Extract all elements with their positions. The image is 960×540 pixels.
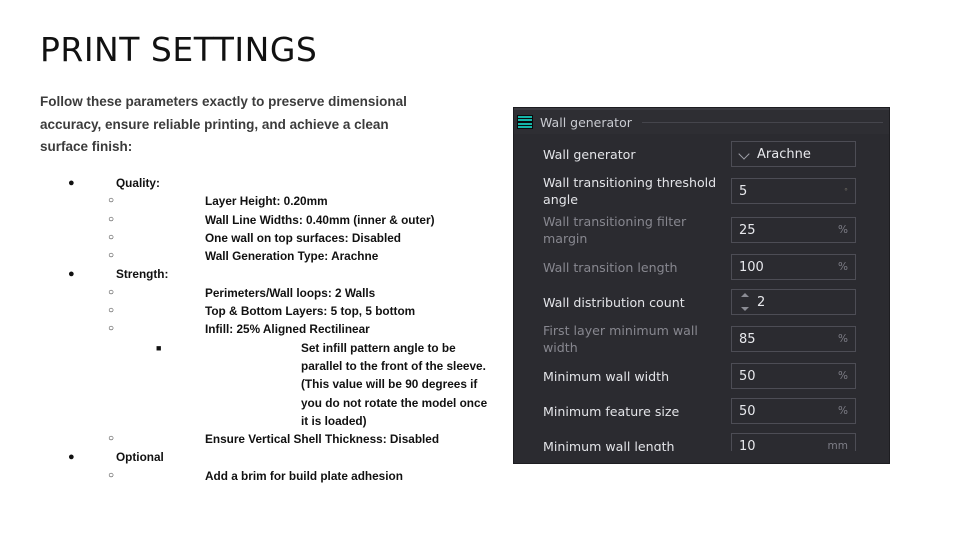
header-divider — [642, 122, 883, 123]
setting-unit: % — [834, 224, 848, 236]
bullet-item-l1: ●Quality: — [40, 174, 490, 192]
setting-label: Minimum wall width — [521, 368, 731, 385]
setting-label: Wall transition length — [521, 259, 731, 276]
setting-text-field[interactable]: 5° — [731, 178, 856, 204]
setting-text-field[interactable]: 25% — [731, 217, 856, 243]
bullet-item-l2: ○Wall Generation Type: Arachne — [40, 247, 490, 265]
setting-text-field[interactable]: 100% — [731, 254, 856, 280]
bullet-item-l2: ○Perimeters/Wall loops: 2 Walls — [40, 284, 490, 302]
setting-value[interactable]: 5 — [739, 184, 840, 199]
setting-label: Wall generator — [521, 146, 731, 163]
settings-bullet-list: ●Quality:○Layer Height: 0.20mm○Wall Line… — [40, 174, 490, 485]
bullet-text: Strength: — [116, 265, 490, 283]
setting-value[interactable]: 100 — [739, 260, 834, 275]
setting-value[interactable]: 25 — [739, 223, 834, 238]
bullet-text: Wall Generation Type: Arachne — [205, 247, 490, 265]
bullet-marker-icon: ● — [40, 265, 116, 283]
bullet-text: Ensure Vertical Shell Thickness: Disable… — [205, 430, 490, 448]
setting-row: Wall generatorArachne — [521, 139, 882, 169]
bullet-text: Set infill pattern angle to be parallel … — [301, 339, 490, 430]
setting-label: Minimum feature size — [521, 403, 731, 420]
setting-dropdown-field[interactable]: Arachne — [731, 141, 856, 167]
setting-label: First layer minimum wall width — [521, 322, 731, 356]
bullet-text: Infill: 25% Aligned Rectilinear — [205, 320, 490, 338]
setting-text-field[interactable]: 50% — [731, 363, 856, 389]
bullet-text: Quality: — [116, 174, 490, 192]
bullet-text: Perimeters/Wall loops: 2 Walls — [205, 284, 490, 302]
setting-value[interactable]: 85 — [739, 332, 834, 347]
bullet-marker-icon: ■ — [40, 339, 301, 357]
bullet-marker-icon: ○ — [40, 320, 205, 338]
bullet-text: Layer Height: 0.20mm — [205, 192, 490, 210]
bullet-item-l3: ■Set infill pattern angle to be parallel… — [40, 339, 490, 430]
bullet-text: One wall on top surfaces: Disabled — [205, 229, 490, 247]
setting-unit: ° — [840, 187, 848, 196]
setting-value[interactable]: 50 — [739, 369, 834, 384]
setting-unit: % — [834, 370, 848, 382]
panel-header[interactable]: Wall generator — [514, 108, 889, 134]
bullet-item-l2: ○Top & Bottom Layers: 5 top, 5 bottom — [40, 302, 490, 320]
setting-label: Wall transitioning filter margin — [521, 213, 731, 247]
setting-row: Minimum feature size50% — [521, 396, 882, 426]
panel-bottom-edge — [514, 451, 889, 463]
bullet-text: Add a brim for build plate adhesion — [205, 467, 490, 485]
setting-unit: % — [834, 405, 848, 417]
bullet-item-l2: ○Layer Height: 0.20mm — [40, 192, 490, 210]
layers-icon — [517, 115, 533, 129]
setting-value[interactable]: Arachne — [757, 147, 848, 162]
chevron-down-icon — [739, 148, 751, 160]
bullet-marker-icon: ● — [40, 174, 116, 192]
setting-text-field[interactable]: 85% — [731, 326, 856, 352]
bullet-item-l1: ●Strength: — [40, 265, 490, 283]
setting-row: First layer minimum wall width85% — [521, 322, 882, 356]
bullet-marker-icon: ○ — [40, 430, 205, 448]
bullet-item-l1: ●Optional — [40, 448, 490, 466]
setting-spinner-field[interactable]: 2 — [731, 289, 856, 315]
bullet-marker-icon: ○ — [40, 467, 205, 485]
intro-paragraph: Follow these parameters exactly to prese… — [40, 91, 440, 159]
setting-row: Minimum wall width50% — [521, 361, 882, 391]
panel-header-title: Wall generator — [540, 115, 632, 130]
bullet-marker-icon: ○ — [40, 302, 205, 320]
bullet-marker-icon: ○ — [40, 284, 205, 302]
spinner-icon[interactable] — [739, 293, 750, 311]
setting-row: Wall transitioning filter margin25% — [521, 213, 882, 247]
setting-label: Wall transitioning threshold angle — [521, 174, 731, 208]
bullet-marker-icon: ○ — [40, 211, 205, 229]
setting-row: Wall distribution count2 — [521, 287, 882, 317]
bullet-item-l2: ○Wall Line Widths: 0.40mm (inner & outer… — [40, 211, 490, 229]
setting-unit: % — [834, 333, 848, 345]
bullet-item-l2: ○Ensure Vertical Shell Thickness: Disabl… — [40, 430, 490, 448]
page-title: PRINT SETTINGS — [40, 30, 317, 69]
setting-label: Wall distribution count — [521, 294, 731, 311]
bullet-text: Optional — [116, 448, 490, 466]
setting-text-field[interactable]: 50% — [731, 398, 856, 424]
bullet-item-l2: ○One wall on top surfaces: Disabled — [40, 229, 490, 247]
setting-row: Wall transitioning threshold angle5° — [521, 174, 882, 208]
setting-value[interactable]: 2 — [757, 295, 848, 310]
panel-settings-list: Wall generatorArachneWall transitioning … — [514, 134, 889, 461]
bullet-marker-icon: ○ — [40, 229, 205, 247]
bullet-item-l2: ○Infill: 25% Aligned Rectilinear — [40, 320, 490, 338]
bullet-marker-icon: ○ — [40, 192, 205, 210]
bullet-text: Wall Line Widths: 0.40mm (inner & outer) — [205, 211, 490, 229]
setting-unit: % — [834, 261, 848, 273]
bullet-marker-icon: ○ — [40, 247, 205, 265]
setting-row: Wall transition length100% — [521, 252, 882, 282]
bullet-marker-icon: ● — [40, 448, 116, 466]
bullet-text: Top & Bottom Layers: 5 top, 5 bottom — [205, 302, 490, 320]
bullet-item-l2: ○Add a brim for build plate adhesion — [40, 467, 490, 485]
setting-value[interactable]: 50 — [739, 404, 834, 419]
wall-generator-settings-panel: Wall generator Wall generatorArachneWall… — [514, 108, 889, 463]
